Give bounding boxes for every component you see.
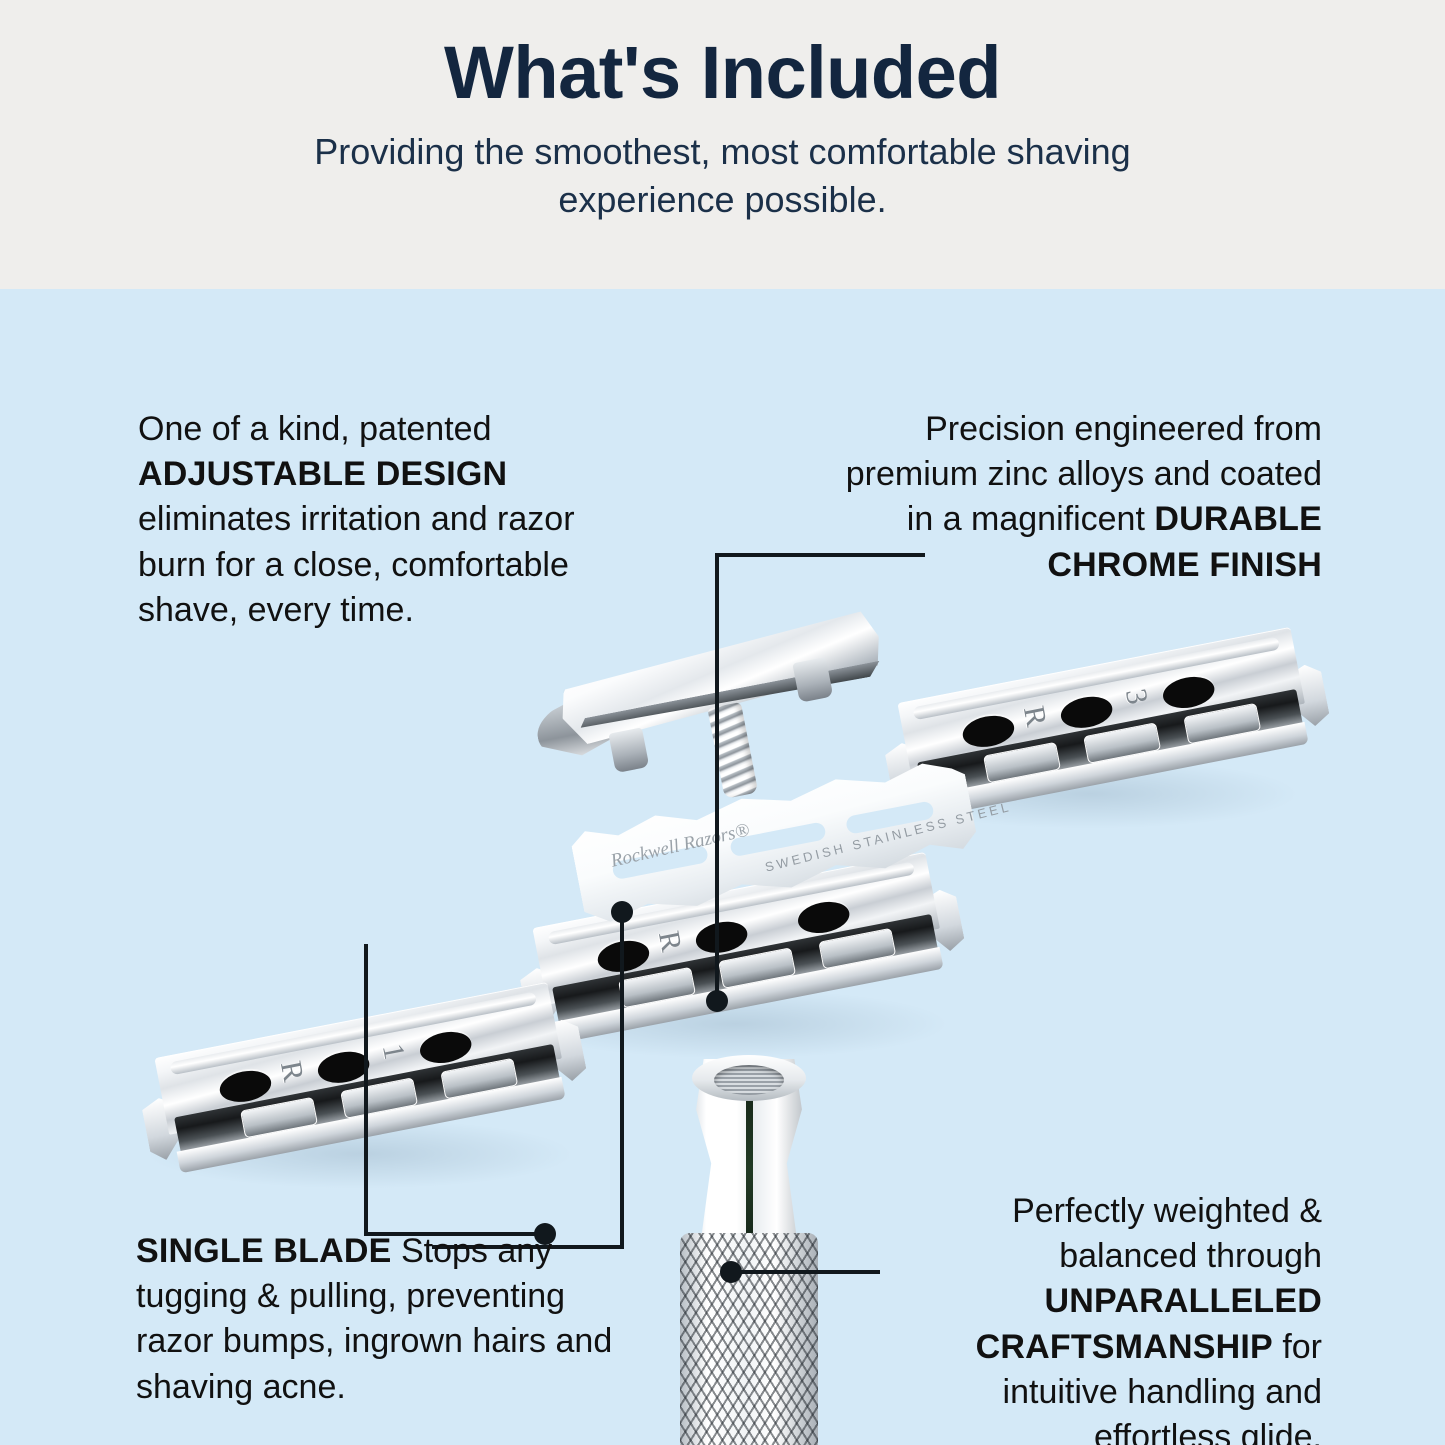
callout-term: ADJUSTABLE DESIGN: [138, 455, 507, 493]
page-subtitle: Providing the smoothest, most comfortabl…: [253, 128, 1193, 225]
callout-craftsmanship: Perfectly weighted & balanced through UN…: [880, 1189, 1322, 1445]
razor-handle: [662, 1059, 838, 1445]
product-canvas: R 3 R: [0, 289, 1445, 1445]
handle-seam: [746, 1089, 753, 1247]
header-band: What's Included Providing the smoothest,…: [0, 0, 1445, 289]
callout-adjustable-design: One of a kind, patented ADJUSTABLE DESIG…: [138, 407, 608, 633]
callout-term: SINGLE BLADE: [136, 1232, 392, 1270]
cap-post-left: [608, 727, 649, 773]
callout-text-post: eliminates irritation and razor burn for…: [138, 500, 575, 628]
cap-post-right: [792, 657, 833, 703]
callout-single-blade: SINGLE BLADE Stops any tugging & pulling…: [136, 1229, 626, 1410]
cap-screw: [707, 702, 758, 799]
handle-knurled-grip: [680, 1233, 818, 1445]
callout-text-pre: Perfectly weighted & balanced through: [1012, 1192, 1322, 1275]
infographic-page: What's Included Providing the smoothest,…: [0, 0, 1445, 1445]
handle-threaded-bore: [714, 1065, 784, 1095]
callout-term: UNPARALLELED CRAFTSMANSHIP: [976, 1282, 1322, 1365]
callout-durable-chrome: Precision engineered from premium zinc a…: [832, 407, 1322, 588]
page-title: What's Included: [444, 34, 1001, 112]
callout-text-pre: One of a kind, patented: [138, 410, 491, 448]
